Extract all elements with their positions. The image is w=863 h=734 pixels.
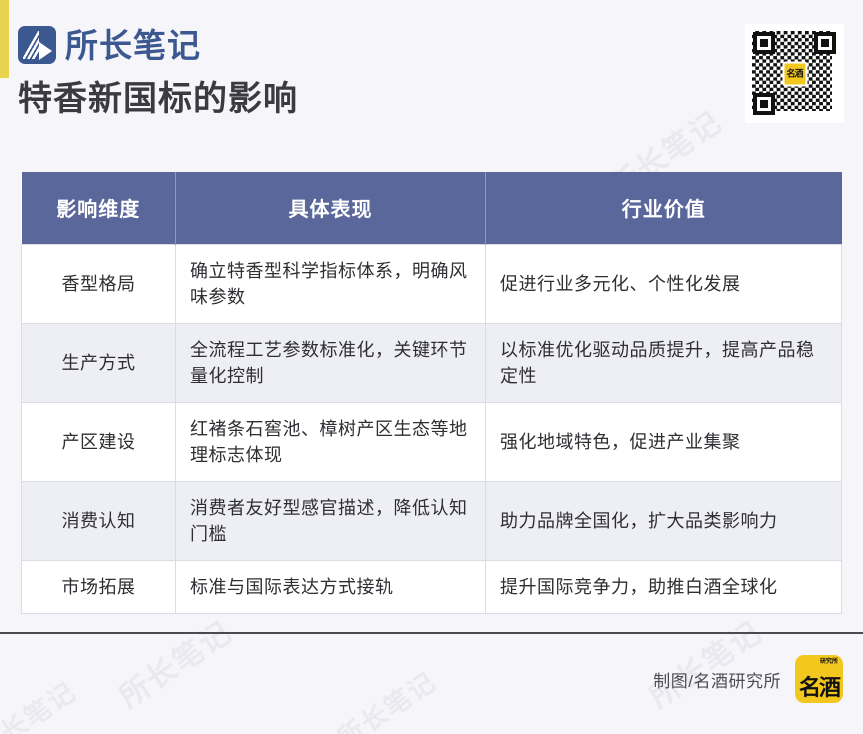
table-row: 市场拓展 标准与国际表达方式接轨 提升国际竞争力，助推白酒全球化 [22,561,842,614]
table-row: 生产方式 全流程工艺参数标准化，关键环节量化控制 以标准优化驱动品质提升，提高产… [22,323,842,402]
page-header: 所长笔记 特香新国标的影响 [0,0,863,150]
studio-badge-sub: 研究所 [820,659,838,665]
table-head: 影响维度 具体表现 行业价值 [22,172,842,244]
qr-pattern: 名酒 [752,31,837,116]
cell-manifestation: 全流程工艺参数标准化，关键环节量化控制 [176,323,486,402]
cell-value: 助力品牌全国化，扩大品类影响力 [486,482,842,561]
qr-finder-bottom-left [753,93,775,115]
table-row: 香型格局 确立特香型科学指标体系，明确风味参数 促进行业多元化、个性化发展 [22,244,842,323]
cell-dimension: 香型格局 [22,244,176,323]
cell-value: 以标准优化驱动品质提升，提高产品稳定性 [486,323,842,402]
column-header-manifestation: 具体表现 [176,172,486,244]
page-footer: 制图/名酒研究所 研究所 名酒 [653,655,843,703]
cell-value: 强化地域特色，促进产业集聚 [486,402,842,481]
qr-center-logo: 名酒 [782,61,807,86]
cell-manifestation: 确立特香型科学指标体系，明确风味参数 [176,244,486,323]
impact-table-container: 影响维度 具体表现 行业价值 香型格局 确立特香型科学指标体系，明确风味参数 促… [21,172,841,614]
footer-divider [0,632,863,634]
notebook-icon [18,26,56,64]
cell-value: 促进行业多元化、个性化发展 [486,244,842,323]
table-body: 香型格局 确立特香型科学指标体系，明确风味参数 促进行业多元化、个性化发展 生产… [22,244,842,614]
cell-dimension: 市场拓展 [22,561,176,614]
brand-lockup: 所长笔记 [18,26,201,64]
brand-name: 所长笔记 [65,29,201,62]
qr-finder-top-right [814,32,836,54]
cell-dimension: 产区建设 [22,402,176,481]
cell-dimension: 消费认知 [22,482,176,561]
qr-finder-top-left [753,32,775,54]
studio-logo-badge: 研究所 名酒 [795,655,843,703]
table-row: 产区建设 红褚条石窖池、樟树产区生态等地理标志体现 强化地域特色，促进产业集聚 [22,402,842,481]
watermark-text: 所长笔记 [0,672,83,734]
cell-manifestation: 消费者友好型感官描述，降低认知门槛 [176,482,486,561]
page-title: 特香新国标的影响 [18,80,298,119]
cell-manifestation: 红褚条石窖池、樟树产区生态等地理标志体现 [176,402,486,481]
cell-dimension: 生产方式 [22,323,176,402]
table-header-row: 影响维度 具体表现 行业价值 [22,172,842,244]
credit-text: 制图/名酒研究所 [653,667,781,692]
watermark-text: 所长笔记 [109,608,240,716]
table-row: 消费认知 消费者友好型感官描述，降低认知门槛 助力品牌全国化，扩大品类影响力 [22,482,842,561]
qr-code[interactable]: 名酒 [745,24,844,123]
column-header-value: 行业价值 [486,172,842,244]
cell-manifestation: 标准与国际表达方式接轨 [176,561,486,614]
studio-badge-main: 名酒 [799,677,839,699]
cell-value: 提升国际竞争力，助推白酒全球化 [486,561,842,614]
watermark-text: 所长笔记 [329,662,443,734]
column-header-dimension: 影响维度 [22,172,176,244]
impact-table: 影响维度 具体表现 行业价值 香型格局 确立特香型科学指标体系，明确风味参数 促… [21,172,842,614]
